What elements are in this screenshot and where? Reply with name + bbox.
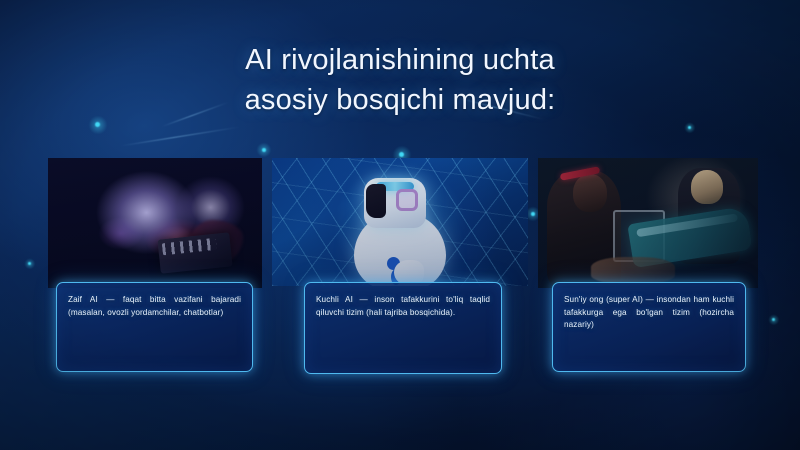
glow-particle-icon (772, 318, 775, 321)
glow-particle-icon (399, 152, 404, 157)
page-title: AI rivojlanishining uchta asosiy bosqich… (0, 40, 800, 120)
card-2-caption-box: Kuchli AI — inson tafakkurini to'liq taq… (304, 282, 502, 374)
robot-panel-shape (396, 189, 418, 211)
card-1-caption-text: Zaif AI — faqat bitta vazifani bajaradi … (68, 294, 241, 319)
card-3-caption-box: Sun'iy ong (super AI) — insondan ham kuc… (552, 282, 746, 372)
glow-particle-icon (531, 212, 535, 216)
two-people-working-on-machinery-photo (538, 158, 758, 288)
glow-particle-icon (95, 122, 100, 127)
card-3-caption-text: Sun'iy ong (super AI) — insondan ham kuc… (564, 294, 734, 332)
device-shape (158, 232, 233, 273)
card-1-caption-box: Zaif AI — faqat bitta vazifani bajaradi … (56, 282, 253, 372)
slide-canvas: AI rivojlanishining uchta asosiy bosqich… (0, 0, 800, 450)
card-3-image (538, 158, 758, 288)
card-2-caption-text: Kuchli AI — inson tafakkurini to'liq taq… (316, 294, 490, 319)
card-1-image (48, 158, 262, 288)
person-right-head-shape (691, 170, 723, 204)
person-left-head-shape (573, 174, 607, 212)
light-streak-icon (121, 127, 240, 147)
glow-particle-icon (262, 148, 266, 152)
robot-head-shape (364, 178, 426, 228)
glow-particle-icon (688, 126, 691, 129)
card-2-image (272, 158, 528, 286)
dark-stage-hands-on-device-photo (48, 158, 262, 288)
white-blue-humanoid-robot-network-photo (272, 158, 528, 286)
robot-visor-shape (366, 184, 386, 218)
hands-shape (591, 257, 675, 283)
glow-particle-icon (28, 262, 31, 265)
